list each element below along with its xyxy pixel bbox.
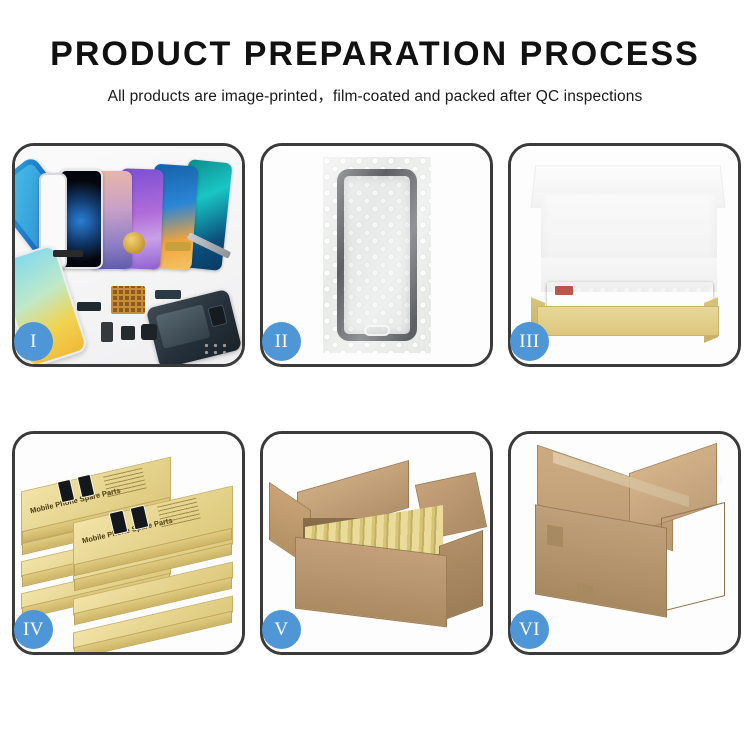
wrapped-screen-icon	[337, 169, 417, 341]
small-part-3-icon	[141, 324, 157, 340]
step-badge-6: VI	[510, 610, 549, 649]
step-badge-3: III	[510, 322, 549, 361]
process-step-panel-4: Mobile Phone Spare Parts Mobile Phone Sp…	[12, 431, 245, 655]
process-step-panel-2: II	[260, 143, 493, 367]
process-step-panel-1: I	[12, 143, 245, 367]
carton-side-panel-icon	[661, 502, 725, 612]
step-badge-1: I	[14, 322, 53, 361]
page-subtitle: All products are image-printed，film-coat…	[0, 84, 750, 106]
bubble-wrap-sheet-icon	[323, 157, 431, 353]
small-part-2-icon	[121, 326, 135, 340]
screws-icon	[202, 342, 228, 356]
page-title: PRODUCT PREPARATION PROCESS	[0, 36, 750, 73]
home-button-icon	[364, 325, 390, 336]
box-front-panel-icon	[537, 306, 719, 336]
process-step-panel-3: III	[508, 143, 741, 367]
flex-cable-1-icon	[53, 250, 83, 257]
process-step-grid: I II III	[12, 143, 738, 655]
step-badge-2: II	[262, 322, 301, 361]
flex-cable-4-icon	[155, 290, 181, 299]
flex-cable-2-icon	[165, 242, 191, 251]
connector-board-icon	[111, 286, 145, 314]
process-step-panel-6: VI	[508, 431, 741, 655]
step-badge-4: IV	[14, 610, 53, 649]
speaker-module-icon	[123, 232, 145, 254]
carton-tab-1-icon	[547, 525, 563, 548]
carton-tab-2-icon	[577, 583, 593, 602]
flex-cable-3-icon	[77, 302, 101, 311]
label-sticker-icon	[555, 286, 573, 295]
process-step-panel-5: V	[260, 431, 493, 655]
page-header: PRODUCT PREPARATION PROCESS All products…	[0, 0, 750, 106]
step-badge-5: V	[262, 610, 301, 649]
box-stack-icon: Mobile Phone Spare Parts Mobile Phone Sp…	[19, 456, 242, 642]
small-part-1-icon	[101, 322, 113, 342]
